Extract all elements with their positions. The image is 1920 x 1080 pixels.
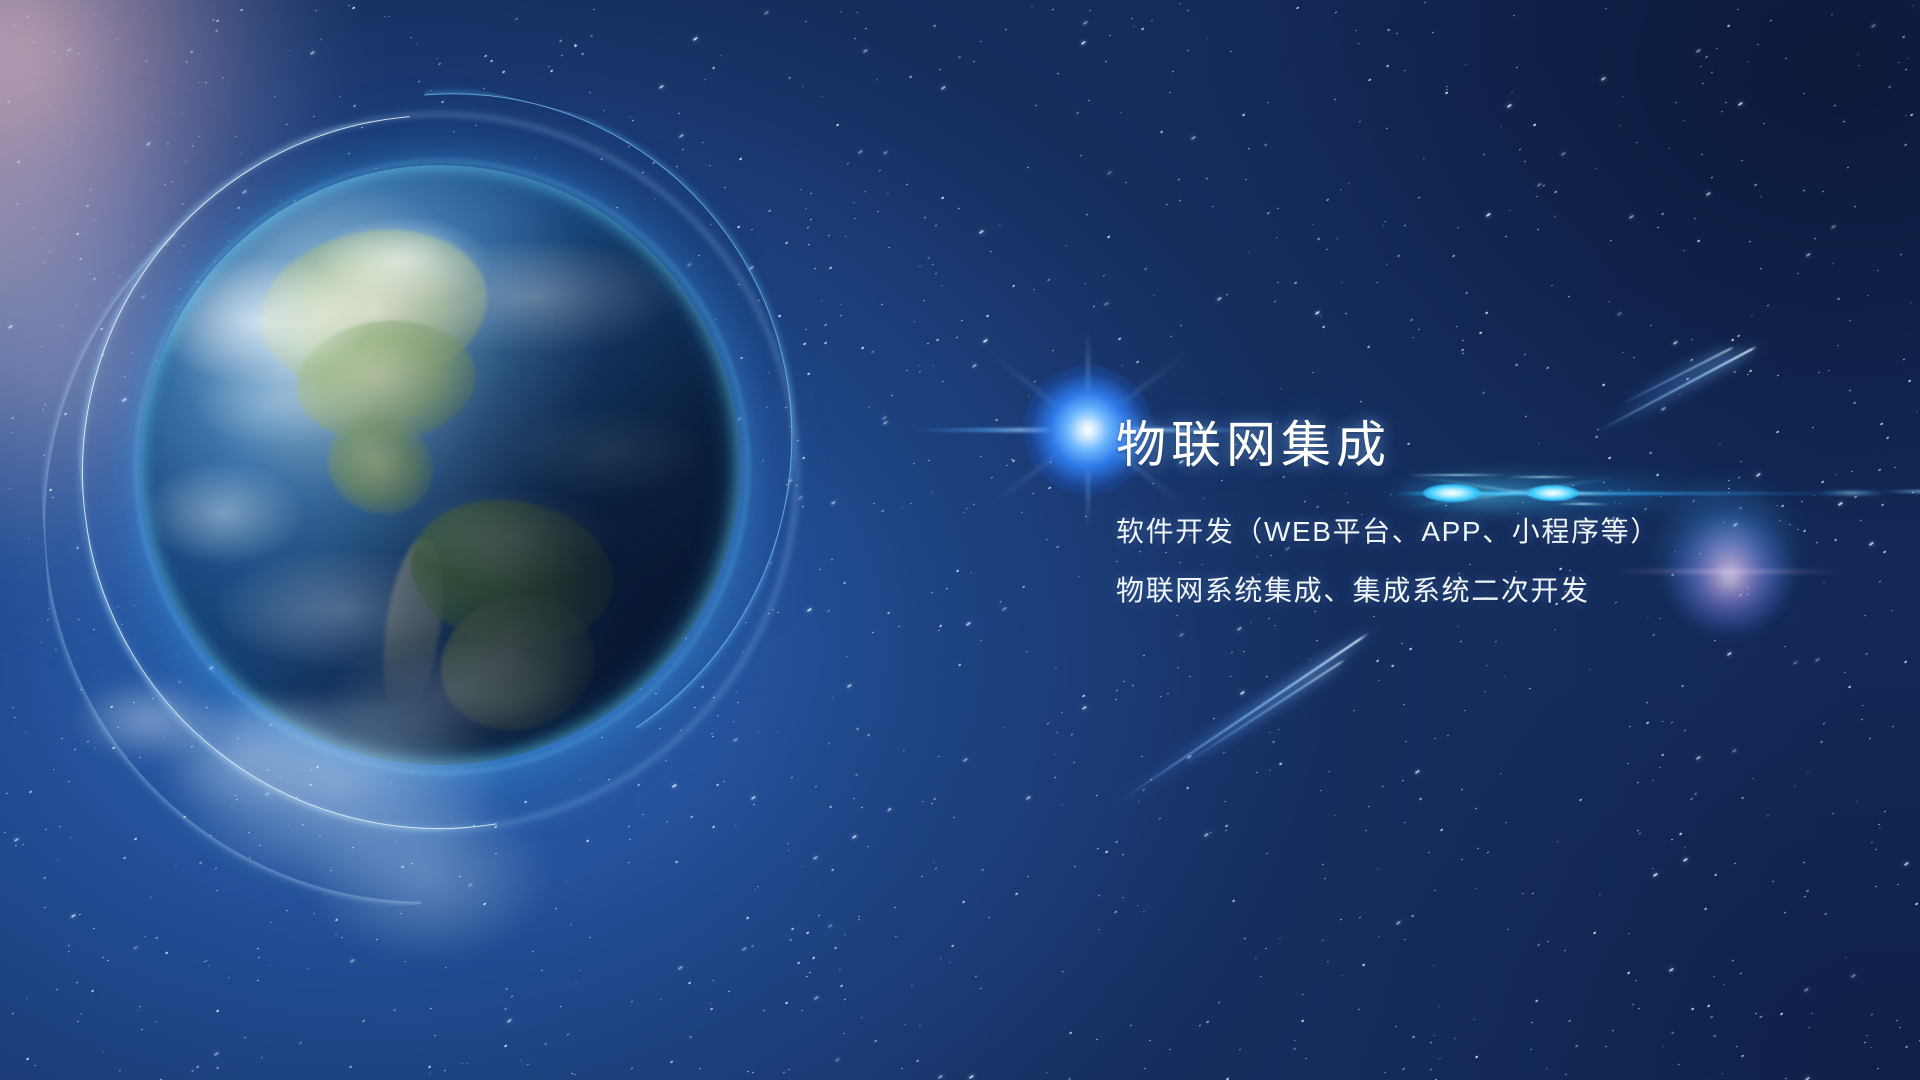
globe-mist-reflection-small [30, 640, 270, 800]
hero-banner: 物联网集成 软件开发（WEB平台、APP、小程序等） 物联网系统集成、集成系统二… [0, 0, 1920, 1080]
page-title: 物联网集成 [1116, 418, 1856, 472]
banner-copy: 物联网集成 软件开发（WEB平台、APP、小程序等） 物联网系统集成、集成系统二… [1116, 418, 1856, 607]
subtitle-line-2: 物联网系统集成、集成系统二次开发 [1116, 576, 1856, 607]
subtitle-line-1: 软件开发（WEB平台、APP、小程序等） [1116, 517, 1856, 548]
